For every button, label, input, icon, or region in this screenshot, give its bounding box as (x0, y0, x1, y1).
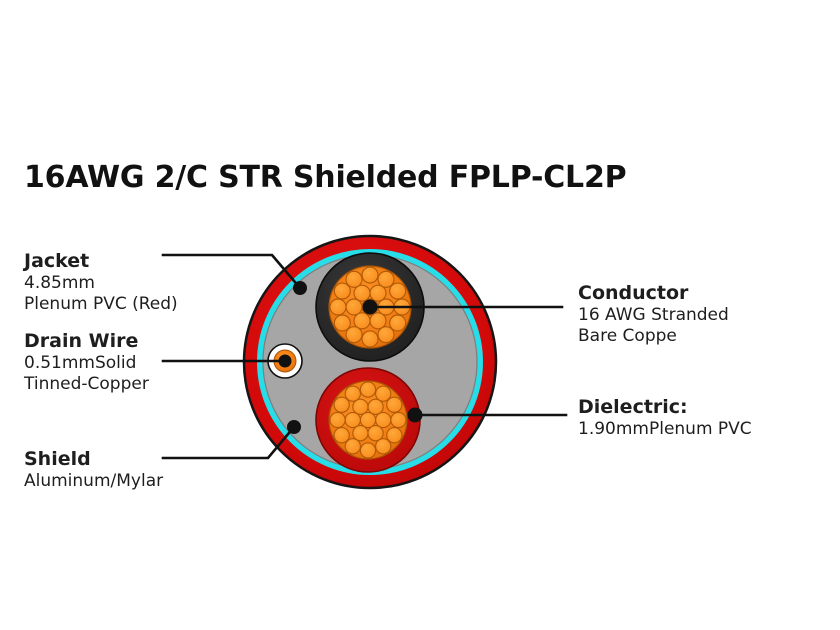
callout-dielectric-line1: 1.90mmPlenum PVC (578, 419, 752, 440)
drain-marker-dot-icon (279, 355, 292, 368)
callout-dielectric-heading: Dielectric: (578, 396, 752, 419)
jacket-marker-dot-icon (293, 281, 307, 295)
callout-shield: Shield Aluminum/Mylar (24, 448, 163, 492)
callout-conductor-heading: Conductor (578, 282, 729, 305)
conductor-marker-dot-icon (363, 300, 378, 315)
shield-marker-dot-icon (287, 420, 301, 434)
callout-jacket-line2: Plenum PVC (Red) (24, 294, 178, 315)
callout-conductor-line2: Bare Coppe (578, 326, 729, 347)
callout-shield-line1: Aluminum/Mylar (24, 471, 163, 492)
callout-drain-wire-line2: Tinned-Copper (24, 374, 149, 395)
dielectric-marker-dot-icon (408, 408, 423, 423)
diagram-stage: 16AWG 2/C STR Shielded FPLP-CL2P Jacket … (0, 0, 840, 630)
callout-dielectric: Dielectric: 1.90mmPlenum PVC (578, 396, 752, 440)
callout-drain-wire: Drain Wire 0.51mmSolid Tinned-Copper (24, 330, 149, 395)
callout-conductor: Conductor 16 AWG Stranded Bare Coppe (578, 282, 729, 347)
page-title: 16AWG 2/C STR Shielded FPLP-CL2P (24, 160, 784, 195)
callout-drain-wire-heading: Drain Wire (24, 330, 149, 353)
callout-shield-heading: Shield (24, 448, 163, 471)
bottom-conductor-assembly (316, 368, 420, 472)
callout-jacket-heading: Jacket (24, 250, 178, 273)
callout-drain-wire-line1: 0.51mmSolid (24, 353, 149, 374)
callout-jacket-line1: 4.85mm (24, 273, 178, 294)
callout-conductor-line1: 16 AWG Stranded (578, 305, 729, 326)
callout-jacket: Jacket 4.85mm Plenum PVC (Red) (24, 250, 178, 315)
